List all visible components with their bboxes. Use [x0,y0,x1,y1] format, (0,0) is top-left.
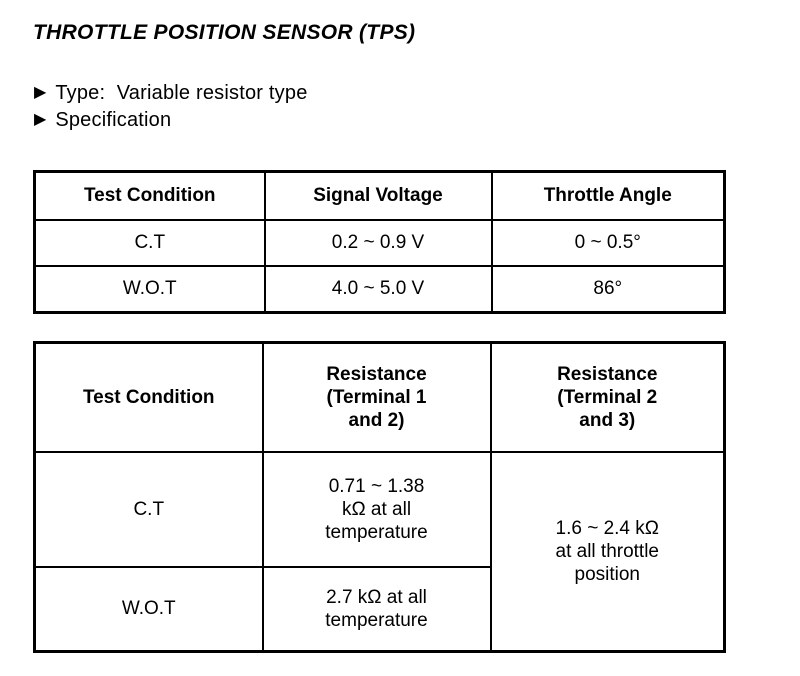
column-header-test-condition: Test Condition [35,172,265,221]
cell-throttle-angle: 86° [492,266,725,313]
list-item-label: Type: Variable resistor type [55,82,307,106]
voltage-spec-table: Test Condition Signal Voltage Throttle A… [33,170,726,314]
column-header-signal-voltage: Signal Voltage [265,172,492,221]
cell-resistance-terminal-1-2: 2.7 kΩ at all temperature [263,567,491,652]
cell-resistance-terminal-1-2: 0.71 ~ 1.38 kΩ at all temperature [263,452,491,567]
resistance-spec-table: Test Condition Resistance (Terminal 1 an… [33,341,726,653]
table-header-row: Test Condition Resistance (Terminal 1 an… [35,343,725,453]
column-header-throttle-angle: Throttle Angle [492,172,725,221]
list-item: ▶ Specification [34,109,634,133]
table-header-row: Test Condition Signal Voltage Throttle A… [35,172,725,221]
cell-test-condition: W.O.T [35,567,263,652]
list-item: ▶ Type: Variable resistor type [34,82,634,106]
cell-signal-voltage: 0.2 ~ 0.9 V [265,220,492,266]
list-item-label: Specification [55,109,171,133]
table-row: C.T 0.2 ~ 0.9 V 0 ~ 0.5° [35,220,725,266]
column-header-test-condition: Test Condition [35,343,263,453]
triangle-right-icon: ▶ [34,110,46,130]
triangle-right-icon: ▶ [34,83,46,103]
page-title: THROTTLE POSITION SENSOR (TPS) [33,20,415,45]
table-row: W.O.T 4.0 ~ 5.0 V 86° [35,266,725,313]
cell-test-condition: C.T [35,452,263,567]
cell-resistance-terminal-2-3: 1.6 ~ 2.4 kΩ at all throttle position [491,452,725,652]
document-page: THROTTLE POSITION SENSOR (TPS) ▶ Type: V… [0,0,800,676]
column-header-resistance-terminal-2-3: Resistance (Terminal 2 and 3) [491,343,725,453]
cell-test-condition: W.O.T [35,266,265,313]
spec-bullet-list: ▶ Type: Variable resistor type ▶ Specifi… [34,82,634,135]
cell-throttle-angle: 0 ~ 0.5° [492,220,725,266]
cell-test-condition: C.T [35,220,265,266]
column-header-resistance-terminal-1-2: Resistance (Terminal 1 and 2) [263,343,491,453]
cell-signal-voltage: 4.0 ~ 5.0 V [265,266,492,313]
table-row: C.T 0.71 ~ 1.38 kΩ at all temperature 1.… [35,452,725,567]
